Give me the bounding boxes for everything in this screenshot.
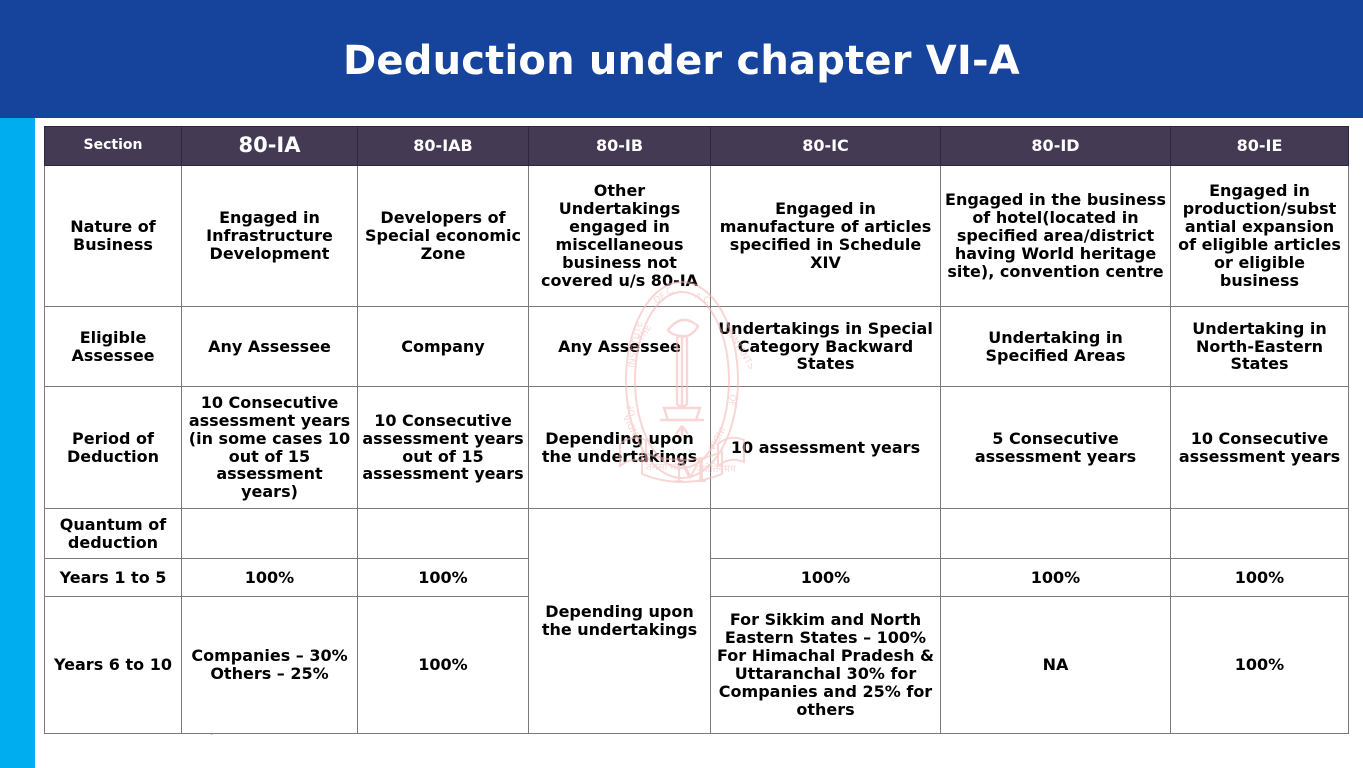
cell-quantum-80-ia	[182, 509, 358, 559]
cell-eligible-80-ib: Any Assessee	[529, 307, 711, 387]
col-header-80-ia: 80-IA	[182, 127, 358, 166]
row-header-nature-of-business: Nature of Business	[45, 166, 182, 307]
cell-years6to10-80-ic: For Sikkim and North Eastern States – 10…	[711, 597, 941, 734]
cell-eligible-80-iab: Company	[358, 307, 529, 387]
table-row-eligible-assessee: Eligible Assessee Any Assessee Company A…	[45, 307, 1349, 387]
cell-eligible-80-ie: Undertaking in North-Eastern States	[1171, 307, 1349, 387]
cell-years6to10-80-ia: Companies – 30% Others – 25%	[182, 597, 358, 734]
cell-quantum-80-iab	[358, 509, 529, 559]
cell-eligible-80-id: Undertaking in Specified Areas	[941, 307, 1171, 387]
deduction-table-wrapper: Section 80-IA 80-IAB 80-IB 80-IC 80-ID 8…	[44, 126, 1348, 734]
cell-quantum-80-ie	[1171, 509, 1349, 559]
col-header-80-ib: 80-IB	[529, 127, 711, 166]
row-header-period-of-deduction: Period of Deduction	[45, 387, 182, 509]
row-header-years-6-to-10: Years 6 to 10	[45, 597, 182, 734]
cell-years6to10-80-iab: 100%	[358, 597, 529, 734]
cell-period-80-id: 5 Consecutive assessment years	[941, 387, 1171, 509]
cell-nature-80-ic: Engaged in manufacture of articles speci…	[711, 166, 941, 307]
cell-nature-80-ib: Other Undertakings engaged in miscellane…	[529, 166, 711, 307]
row-header-eligible-assessee: Eligible Assessee	[45, 307, 182, 387]
cell-80-ib-depending-upon-undertakings: Depending upon the undertakings	[529, 509, 711, 734]
cell-nature-80-iab: Developers of Special economic Zone	[358, 166, 529, 307]
cell-period-80-ic: 10 assessment years	[711, 387, 941, 509]
cell-years1to5-80-ia: 100%	[182, 559, 358, 597]
page-title: Deduction under chapter VI-A	[0, 38, 1363, 84]
cell-years1to5-80-iab: 100%	[358, 559, 529, 597]
cell-period-80-ib: Depending upon the undertakings	[529, 387, 711, 509]
cell-period-80-ie: 10 Consecutive assessment years	[1171, 387, 1349, 509]
cell-years1to5-80-id: 100%	[941, 559, 1171, 597]
cell-eligible-80-ia: Any Assessee	[182, 307, 358, 387]
cell-quantum-80-id	[941, 509, 1171, 559]
cell-nature-80-ie: Engaged in production/subst antial expan…	[1171, 166, 1349, 307]
cell-years6to10-80-ie: 100%	[1171, 597, 1349, 734]
left-accent-bar	[0, 118, 35, 768]
table-row-quantum-of-deduction: Quantum of deduction Depending upon the …	[45, 509, 1349, 559]
cell-quantum-80-ic	[711, 509, 941, 559]
cell-nature-80-ia: Engaged in Infrastructure Development	[182, 166, 358, 307]
col-header-80-id: 80-ID	[941, 127, 1171, 166]
col-header-section: Section	[45, 127, 182, 166]
table-header-row: Section 80-IA 80-IAB 80-IB 80-IC 80-ID 8…	[45, 127, 1349, 166]
table-row-nature-of-business: Nature of Business Engaged in Infrastruc…	[45, 166, 1349, 307]
cell-nature-80-id: Engaged in the business of hotel(located…	[941, 166, 1171, 307]
cell-years6to10-80-id: NA	[941, 597, 1171, 734]
cell-eligible-80-ic: Undertakings in Special Category Backwar…	[711, 307, 941, 387]
deduction-comparison-table: Section 80-IA 80-IAB 80-IB 80-IC 80-ID 8…	[44, 126, 1349, 734]
row-header-years-1-to-5: Years 1 to 5	[45, 559, 182, 597]
col-header-80-ic: 80-IC	[711, 127, 941, 166]
cell-years1to5-80-ie: 100%	[1171, 559, 1349, 597]
col-header-80-iab: 80-IAB	[358, 127, 529, 166]
cell-period-80-iab: 10 Consecutive assessment years out of 1…	[358, 387, 529, 509]
table-row-period-of-deduction: Period of Deduction 10 Consecutive asses…	[45, 387, 1349, 509]
cell-years1to5-80-ic: 100%	[711, 559, 941, 597]
row-header-quantum-of-deduction: Quantum of deduction	[45, 509, 182, 559]
col-header-80-ie: 80-IE	[1171, 127, 1349, 166]
cell-period-80-ia: 10 Consecutive assessment years (in some…	[182, 387, 358, 509]
title-band: Deduction under chapter VI-A	[0, 0, 1363, 118]
